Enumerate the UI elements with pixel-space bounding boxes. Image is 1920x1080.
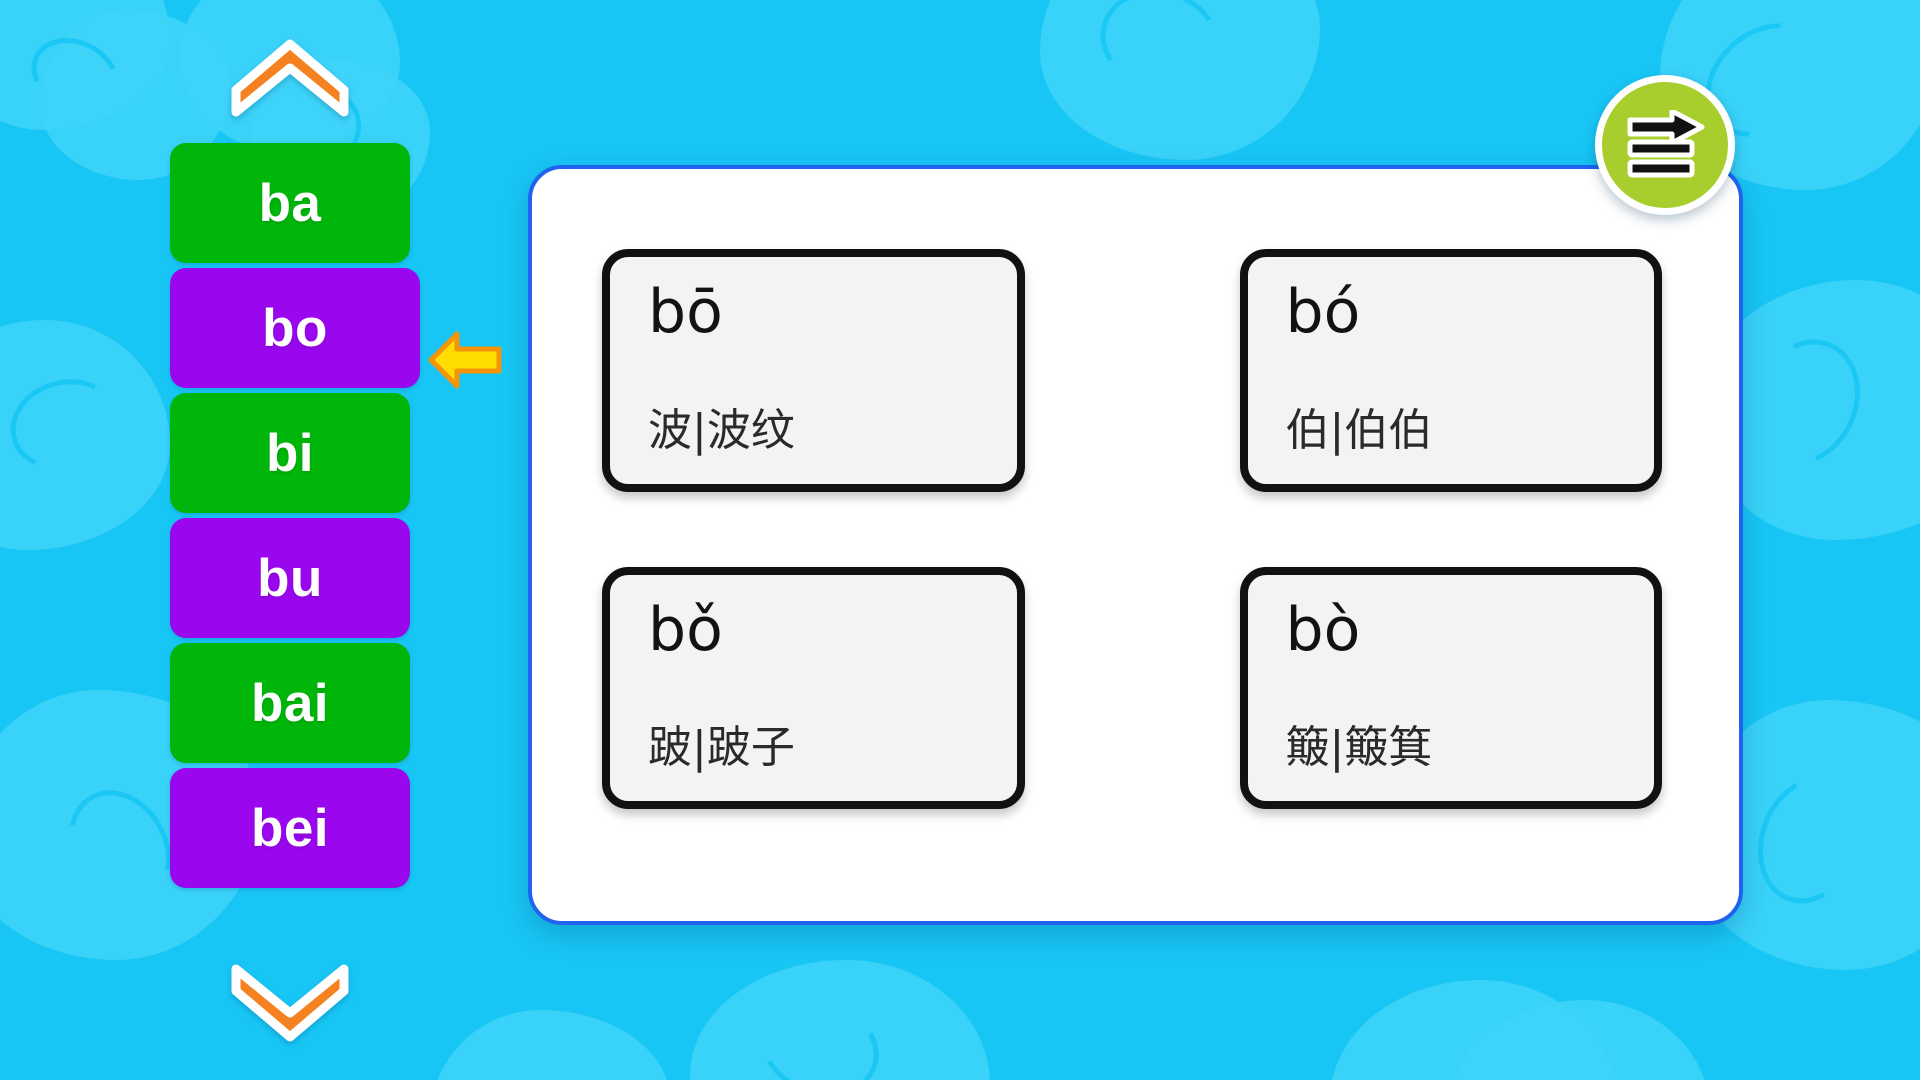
card-hanzi: 簸|簸箕: [1286, 711, 1433, 775]
list-arrow-icon[interactable]: [1595, 75, 1735, 215]
nav-item-label: bo: [262, 298, 328, 359]
nav-item-bi[interactable]: bi: [170, 393, 410, 513]
syllable-card[interactable]: bò 簸|簸箕: [1240, 567, 1663, 810]
nav-item-ba[interactable]: ba: [170, 143, 410, 263]
chevron-down-icon[interactable]: [230, 963, 350, 1043]
nav-item-label: bu: [257, 548, 323, 609]
syllable-list: ba bo bi bu bai bei: [170, 143, 420, 893]
app-root: ba bo bi bu bai bei: [0, 0, 1920, 1080]
chevron-up-icon[interactable]: [230, 38, 350, 118]
syllable-card[interactable]: bō 波|波纹: [602, 249, 1025, 492]
content-panel: bō 波|波纹 bó 伯|伯伯 bǒ 跛|跛子 bò 簸|簸箕: [528, 165, 1743, 925]
nav-item-label: bi: [266, 423, 314, 484]
card-grid: bō 波|波纹 bó 伯|伯伯 bǒ 跛|跛子 bò 簸|簸箕: [602, 249, 1662, 809]
card-pinyin: bō: [648, 281, 1017, 344]
nav-item-bei[interactable]: bei: [170, 768, 410, 888]
card-hanzi: 跛|跛子: [648, 711, 795, 775]
card-hanzi: 伯|伯伯: [1286, 394, 1433, 458]
nav-item-bai[interactable]: bai: [170, 643, 410, 763]
syllable-nav: ba bo bi bu bai bei: [170, 38, 420, 1043]
syllable-card[interactable]: bǒ 跛|跛子: [602, 567, 1025, 810]
card-hanzi: 波|波纹: [648, 394, 795, 458]
card-pinyin: bó: [1286, 281, 1655, 344]
card-pinyin: bò: [1286, 599, 1655, 662]
nav-item-label: ba: [259, 173, 322, 234]
nav-item-bu[interactable]: bu: [170, 518, 410, 638]
nav-item-label: bei: [251, 798, 329, 859]
syllable-card[interactable]: bó 伯|伯伯: [1240, 249, 1663, 492]
nav-item-bo[interactable]: bo: [170, 268, 420, 388]
card-pinyin: bǒ: [648, 599, 1017, 662]
nav-item-label: bai: [251, 673, 329, 734]
